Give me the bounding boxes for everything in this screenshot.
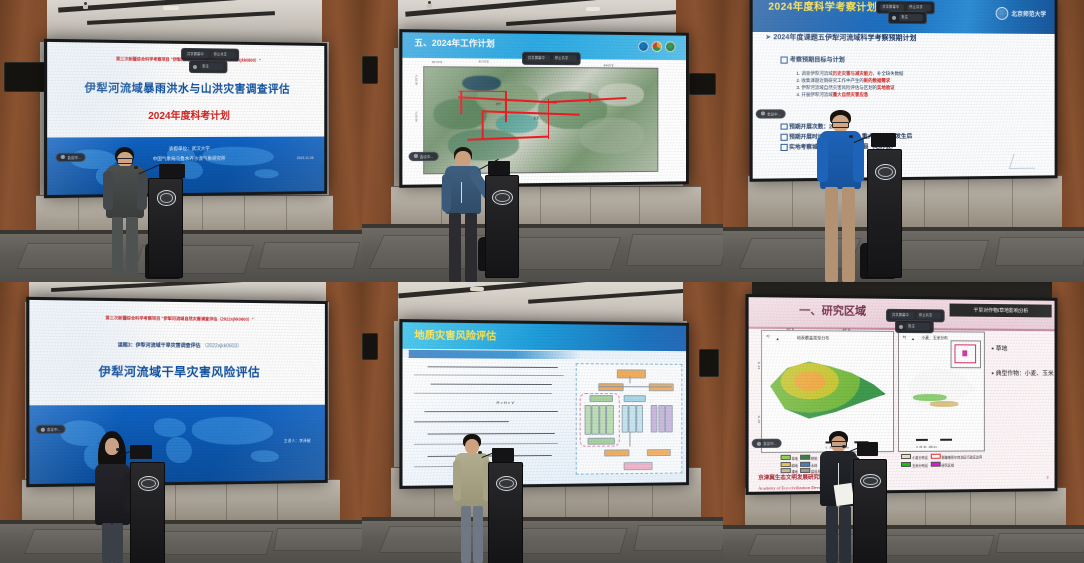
north-arrow-icon: ▲: [776, 336, 780, 341]
formula: R = H × V: [496, 400, 514, 405]
podium: [148, 178, 183, 279]
stop-share-chip[interactable]: 停止共享: [907, 4, 931, 11]
wall-speaker: [362, 333, 378, 360]
list-item: 4. 开展伊犁河流域重大自然灾害应急: [796, 92, 1043, 99]
decorative-watermark: [1009, 154, 1040, 169]
meeting-status-pill[interactable]: 会议中...: [35, 425, 65, 434]
slide-main-title: 伊犁河流域干旱灾害风险评估: [39, 362, 317, 380]
panel-bottom-right: 一、研究区域 干旱对作物/草地影响分析 a) 地表覆盖类型分布 ▲ 0 50 1…: [723, 282, 1084, 563]
menu-dot-icon[interactable]: [892, 16, 896, 20]
led-screen-frame: 2024年度科学考察计划—课题五 北京师范大学 ➤ 2024年度课题五伊犁河流域…: [749, 0, 1057, 183]
wall-speaker: [4, 62, 46, 92]
panel-top-left: 承担单位：武汉大学 中国气象局乌鲁木齐沙漠气象研究所 2023.11.26 第三…: [0, 0, 362, 282]
wall-speaker: [362, 56, 378, 83]
wall-speaker: [689, 73, 716, 95]
bullet-dot-icon: [992, 372, 994, 374]
square-bullet-icon: [781, 124, 788, 131]
panel-bottom-center: 地质灾害风险评估 地质灾害风险评估概念 R = H × V: [362, 282, 723, 563]
slide-header-title: 地质灾害风险评估: [414, 327, 496, 343]
world-map-graphic: [29, 404, 324, 484]
share-screen-chip[interactable]: 共享屏幕中: [526, 55, 550, 62]
slide-body: R = H × V: [402, 359, 686, 487]
meeting-status-label: 会议中...: [419, 153, 432, 158]
meeting-status-pill[interactable]: 会议中...: [56, 152, 86, 161]
body-text-block: R = H × V: [414, 366, 570, 367]
presentation-screen: 2024年度科学考察计划—课题五 北京师范大学 ➤ 2024年度课题五伊犁河流域…: [753, 0, 1055, 180]
page-number: 3: [1047, 474, 1049, 479]
ceiling-camera-icon: [427, 4, 432, 8]
bullet-grassland: 草地: [992, 344, 1007, 353]
presenter-label: 主讲人：李泽椒: [284, 437, 311, 443]
slide-section: 考察预期目标与计划: [781, 55, 845, 64]
video-conference-toolbar[interactable]: 共享屏幕中 停止共享: [522, 52, 581, 65]
share-screen-chip[interactable]: 共享屏幕中: [890, 311, 914, 318]
presenter-person: [452, 434, 492, 563]
university-seal-icon: [996, 7, 1009, 20]
podium: [488, 462, 522, 563]
map-b-caption: 小麦、玉米分布: [922, 336, 948, 341]
podium: [485, 175, 519, 279]
slide-date: 2023.11.26: [297, 156, 314, 160]
photo-collage-grid: 承担单位：武汉大学 中国气象局乌鲁木齐沙漠气象研究所 2023.11.26 第三…: [0, 0, 1084, 563]
map-b-label: b): [903, 335, 906, 339]
status-dot-icon: [41, 427, 45, 431]
slide-heading: ➤ 2024年度课题五伊犁河流域科学考察预期计划: [765, 34, 1043, 44]
menu-dot-icon[interactable]: [899, 325, 903, 329]
north-arrow-icon: ▲: [912, 337, 916, 341]
panel-top-right: 2024年度科学考察计划—课题五 北京师范大学 ➤ 2024年度课题五伊犁河流域…: [723, 0, 1084, 282]
led-screen-frame: 一、研究区域 干旱对作物/草地影响分析 a) 地表覆盖类型分布 ▲ 0 50 1…: [746, 294, 1058, 495]
laptop: [130, 445, 152, 459]
slide-header-title: 五、2024年工作计划: [414, 37, 494, 50]
scale-bar: [917, 439, 964, 441]
laptop: [488, 161, 510, 175]
bnu-logo: 北京师范大学: [996, 7, 1046, 20]
meeting-status-label: 会议中...: [67, 154, 80, 159]
wall-speaker: [699, 349, 719, 376]
status-dot-icon: [757, 442, 761, 446]
presentation-screen: 主讲人：李泽椒 第三次新疆综合科学考察项目 "伊犁河流域自然灾害调查评估（202…: [29, 300, 324, 484]
slide-footer-band: 承担单位：武汉大学 中国气象局乌鲁木齐沙漠气象研究所 2023.11.26: [47, 136, 324, 195]
slide-title-layout: 主讲人：李泽椒 第三次新疆综合科学考察项目 "伊犁河流域自然灾害调查评估（202…: [29, 300, 324, 484]
stop-share-chip[interactable]: 停止共享: [212, 52, 236, 59]
annotate-chip[interactable]: 批注: [906, 323, 930, 330]
microphone-head: [478, 451, 482, 454]
risk-flowchart: [576, 363, 683, 474]
university-name: 北京师范大学: [1011, 9, 1046, 18]
bullet-dot-icon: [992, 348, 994, 350]
square-bullet-icon: [781, 145, 788, 152]
inset-map: [950, 340, 981, 368]
status-dot-icon: [61, 155, 65, 159]
slide-title-layout: 承担单位：武汉大学 中国气象局乌鲁木齐沙漠气象研究所 2023.11.26 第三…: [47, 42, 324, 196]
annotate-chip[interactable]: 批注: [899, 15, 923, 22]
footer-cn: 京津冀生态文明发展研究院: [758, 472, 824, 481]
map-b: b) 小麦、玉米分布 ▲ 0 45 90 180 km: [899, 331, 986, 452]
slide-heading-text: 2024年度课题五伊犁河流域科学考察预期计划: [773, 34, 916, 42]
presentation-screen: 一、研究区域 干旱对作物/草地影响分析 a) 地表覆盖类型分布 ▲ 0 50 1…: [749, 297, 1055, 492]
laptop: [159, 164, 184, 178]
numbered-list: 1. 调查伊犁河流域历史灾害与减灾能力，补全缺失数据 2. 收集课题近期研究工作…: [796, 71, 1043, 99]
meeting-status-pill[interactable]: 会议中...: [752, 439, 782, 448]
laptop: [857, 442, 879, 456]
podium: [867, 149, 901, 278]
panel-top-center: 五、2024年工作计划: [362, 0, 723, 282]
meeting-status-pill[interactable]: 会议中...: [756, 110, 786, 119]
badge-icon: [651, 41, 662, 52]
meeting-status-label: 会议中...: [763, 441, 776, 446]
badge-icon: [638, 41, 649, 52]
slide-footer-band: 主讲人：李泽椒: [29, 404, 324, 484]
slide-header-title: 一、研究区域: [799, 302, 866, 319]
presentation-screen: 承担单位：武汉大学 中国气象局乌鲁木齐沙漠气象研究所 2023.11.26 第三…: [47, 42, 324, 196]
paper-handout: [834, 483, 855, 506]
slide-subtitle: 2024年度科考计划: [56, 106, 316, 121]
bullet-crops: 典型作物：小麦、玉米: [992, 368, 1054, 377]
stop-share-chip[interactable]: 停止共享: [917, 312, 941, 319]
status-dot-icon: [761, 112, 765, 116]
slide-main-title: 伊犁河流域暴雨洪水与山洪灾害调查评估: [56, 79, 316, 97]
video-conference-toolbar-secondary[interactable]: 批注: [189, 60, 227, 73]
share-screen-chip[interactable]: 共享屏幕中: [880, 4, 904, 11]
topic-line: 课题3：伊犁河流域干旱灾害调查评估 （2022xjkk0603）: [48, 340, 308, 349]
podium: [853, 459, 887, 563]
video-conference-toolbar-secondary[interactable]: 批注: [895, 320, 934, 333]
map-a-caption: 地表覆盖类型分布: [797, 335, 830, 341]
laptop: [492, 448, 514, 462]
meeting-status-pill[interactable]: 会议中...: [408, 151, 438, 160]
status-dot-icon: [413, 154, 417, 158]
ceiling-light: [163, 6, 179, 10]
presentation-screen: 地质灾害风险评估 地质灾害风险评估概念 R = H × V: [402, 322, 686, 486]
meeting-status-label: 会议中...: [47, 427, 60, 432]
meeting-status-label: 会议中...: [767, 112, 780, 117]
microphone-head: [116, 448, 120, 451]
annotate-chip[interactable]: 批注: [200, 63, 224, 70]
badge-icon: [665, 41, 676, 52]
slide-bnu-layout: 2024年度科学考察计划—课题五 北京师范大学 ➤ 2024年度课题五伊犁河流域…: [753, 0, 1055, 180]
video-conference-toolbar-secondary[interactable]: 批注: [888, 12, 927, 25]
menu-dot-icon[interactable]: [193, 65, 197, 69]
slide-geo-layout: 地质灾害风险评估 地质灾害风险评估概念 R = H × V: [402, 322, 686, 486]
map-a-label: a): [767, 334, 770, 338]
laptop: [871, 133, 896, 147]
slide-tag: 干旱对作物/草地影响分析: [950, 303, 1051, 317]
square-bullet-icon: [781, 57, 788, 64]
org-badges: [638, 41, 675, 52]
led-screen-frame: 主讲人：李泽椒 第三次新疆综合科学考察项目 "伊犁河流域自然灾害调查评估（202…: [26, 297, 327, 487]
panel-bottom-left: 主讲人：李泽椒 第三次新疆综合科学考察项目 "伊犁河流域自然灾害调查评估（202…: [0, 282, 362, 563]
ceiling-camera-icon: [83, 5, 88, 9]
share-screen-chip[interactable]: 共享屏幕中: [185, 51, 209, 58]
square-bullet-icon: [781, 134, 788, 141]
stop-share-chip[interactable]: 停止共享: [553, 55, 577, 62]
presenter-person: [101, 147, 148, 277]
legend-b: 小麦分布区 新疆维吾尔自治区行政区边界 玉米分布区 研究区域: [902, 453, 983, 469]
led-screen-frame: 地质灾害风险评估 地质灾害风险评估概念 R = H × V: [399, 319, 689, 489]
led-screen-frame: 承担单位：武汉大学 中国气象局乌鲁木齐沙漠气象研究所 2023.11.26 第三…: [44, 39, 327, 199]
slide-section-text: 考察预期目标与计划: [790, 58, 845, 64]
podium: [130, 462, 165, 563]
presenter-person: [817, 110, 864, 282]
